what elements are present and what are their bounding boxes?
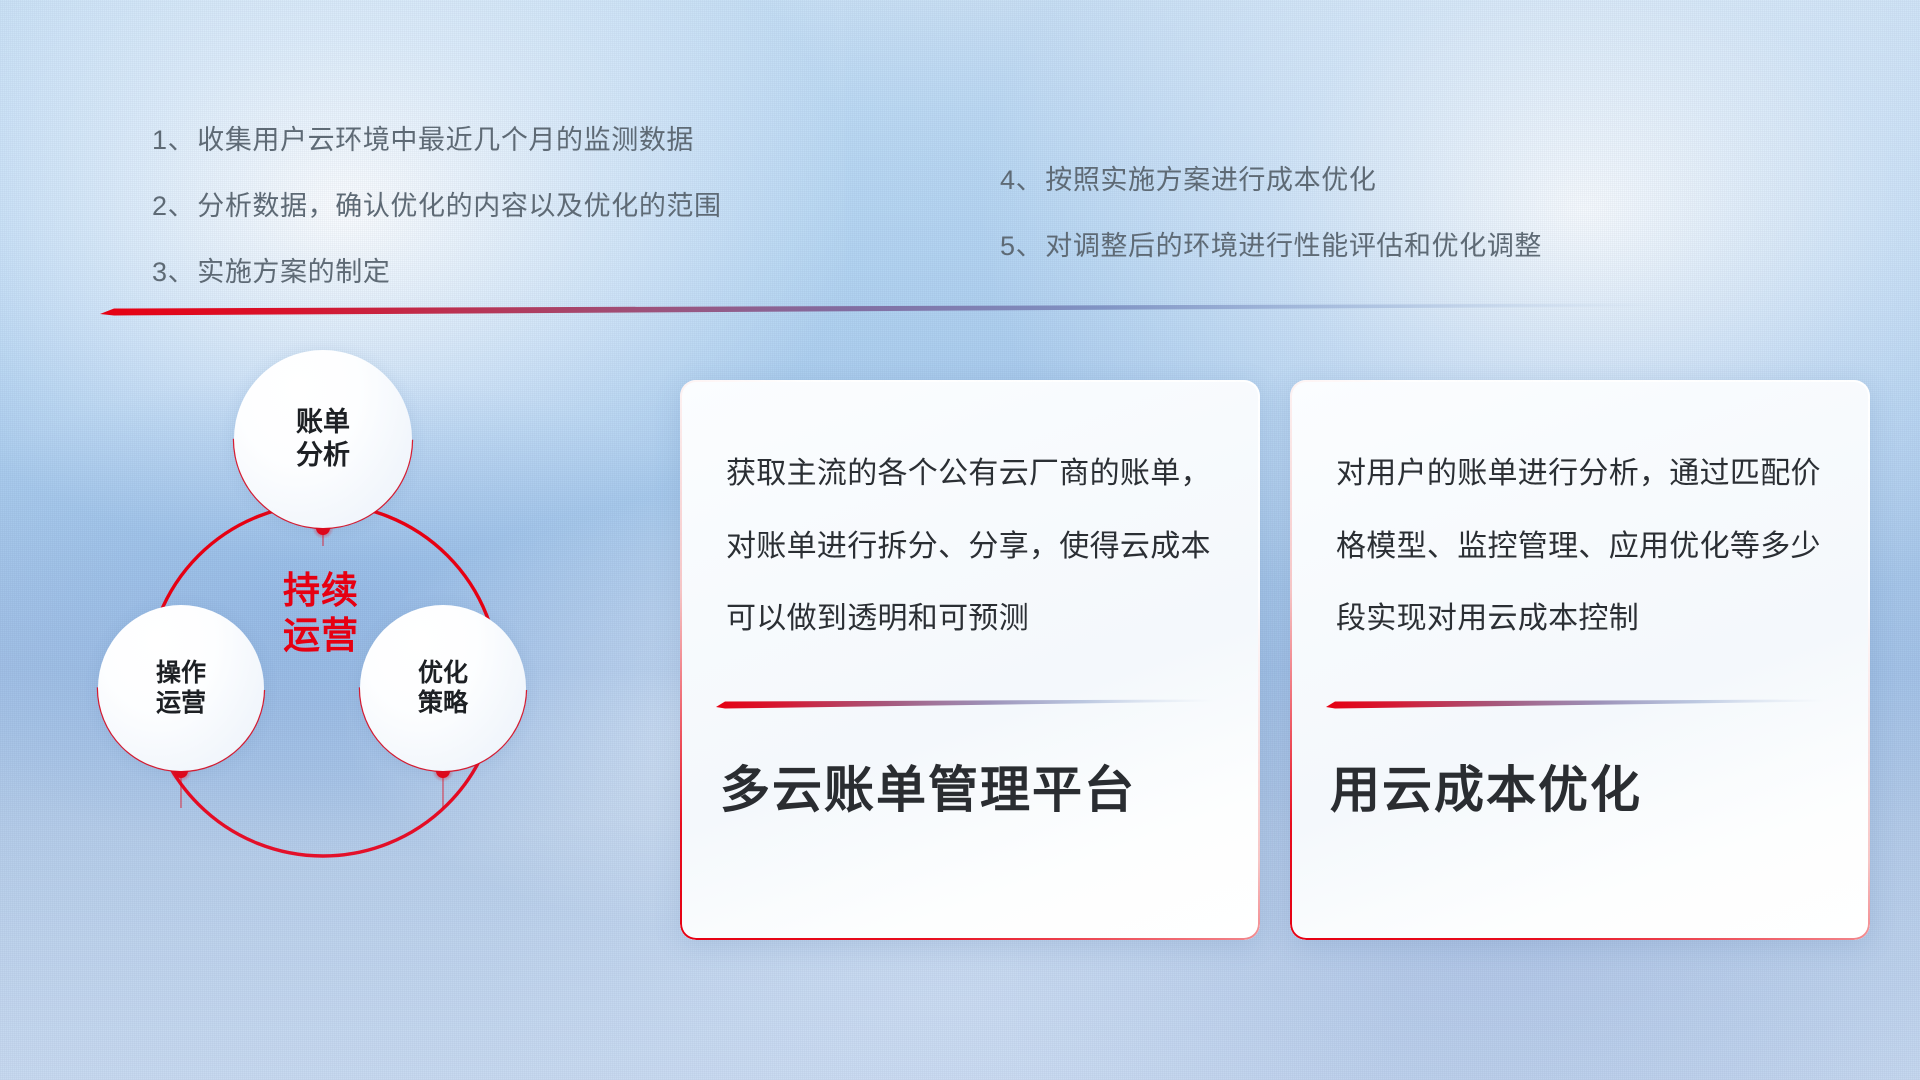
card-title: 多云账单管理平台 (720, 750, 1136, 822)
step-number-4: 4、 (1000, 158, 1043, 197)
card-accent-rule (1326, 698, 1824, 710)
cycle-node-ops-operation-line2: 运营 (156, 688, 206, 719)
cycle-node-bill-analysis[interactable]: 账单 分析 (234, 350, 412, 528)
card-accent-rule (716, 698, 1214, 710)
step-text-3: 实施方案的制定 (197, 250, 390, 289)
cycle-node-bill-analysis-line2: 分析 (296, 439, 350, 472)
cycle-node-opt-strategy-line2: 策略 (418, 688, 468, 719)
steps-right-column: 4、 按照实施方案进行成本优化 5、 对调整后的环境进行性能评估和优化调整 (1000, 158, 1542, 290)
cycle-node-opt-strategy-line1: 优化 (418, 658, 468, 689)
cycle-center-label-line2: 运营 (226, 613, 416, 658)
card-multi-cloud-bill-platform[interactable]: 获取主流的各个公有云厂商的账单，对账单进行拆分、分享，使得云成本可以做到透明和可… (680, 380, 1260, 940)
step-number-2: 2、 (152, 184, 195, 223)
cycle-diagram: 账单 分析 操作 运营 优化 策略 持续 运营 (90, 350, 650, 950)
card-body-text: 获取主流的各个公有云厂商的账单，对账单进行拆分、分享，使得云成本可以做到透明和可… (726, 438, 1224, 656)
cycle-node-ops-operation-line1: 操作 (156, 658, 206, 689)
card-rule-icon (1326, 698, 1824, 710)
step-number-1: 1、 (152, 118, 195, 157)
card-body-text: 对用户的账单进行分析，通过匹配价格模型、监控管理、应用优化等多少段实现对用云成本… (1336, 438, 1834, 656)
cycle-node-bill-analysis-line1: 账单 (296, 406, 350, 439)
card-rule-icon (716, 698, 1214, 710)
step-item-5: 5、 对调整后的环境进行性能评估和优化调整 (1000, 224, 1542, 263)
step-text-2: 分析数据，确认优化的内容以及优化的范围 (197, 184, 721, 223)
card-title: 用云成本优化 (1330, 750, 1642, 822)
step-number-3: 3、 (152, 250, 195, 289)
step-text-4: 按照实施方案进行成本优化 (1045, 158, 1376, 197)
card-cloud-cost-optimization[interactable]: 对用户的账单进行分析，通过匹配价格模型、监控管理、应用优化等多少段实现对用云成本… (1290, 380, 1870, 940)
step-item-3: 3、 实施方案的制定 (152, 250, 722, 289)
step-text-1: 收集用户云环境中最近几个月的监测数据 (197, 118, 694, 157)
cycle-center-label: 持续 运营 (226, 568, 416, 658)
step-text-5: 对调整后的环境进行性能评估和优化调整 (1045, 224, 1542, 263)
section-divider (100, 300, 1660, 320)
step-item-1: 1、 收集用户云环境中最近几个月的监测数据 (152, 118, 722, 157)
divider-icon (100, 300, 1660, 320)
cycle-center-label-line1: 持续 (226, 568, 416, 613)
step-item-2: 2、 分析数据，确认优化的内容以及优化的范围 (152, 184, 722, 223)
step-number-5: 5、 (1000, 224, 1043, 263)
steps-left-column: 1、 收集用户云环境中最近几个月的监测数据 2、 分析数据，确认优化的内容以及优… (152, 118, 722, 316)
step-item-4: 4、 按照实施方案进行成本优化 (1000, 158, 1542, 197)
